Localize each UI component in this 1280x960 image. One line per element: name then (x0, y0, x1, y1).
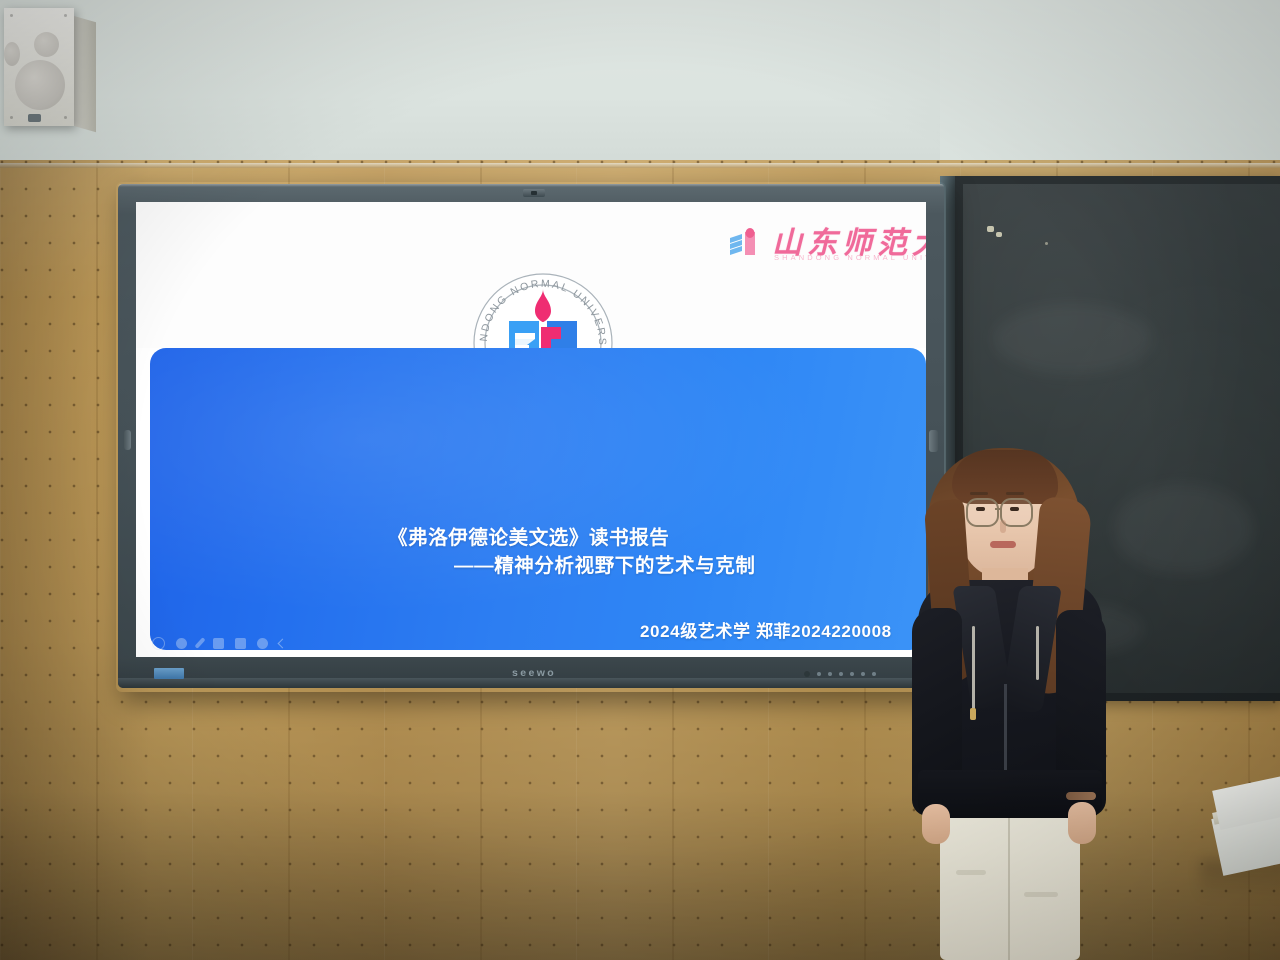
hand-left (922, 804, 950, 844)
glasses-bridge (995, 508, 1002, 510)
bezel-highlight (118, 184, 944, 187)
display-brand-logo: seewo (512, 667, 556, 679)
glasses-lens-left (966, 498, 999, 527)
chevron-left-icon[interactable] (278, 638, 288, 648)
hand-right (1068, 802, 1096, 844)
speaker-woofer (15, 60, 65, 110)
slide-header-logo: 山东师范大学 SHANDONG NORMAL UNIVERSITY (728, 220, 926, 268)
drawstring-left (972, 626, 975, 712)
shape-icon[interactable] (257, 638, 268, 649)
slide-title-line1: 《弗洛伊德论美文选》读书报告 (388, 521, 669, 550)
eye-right (1010, 507, 1019, 511)
eye-left (976, 507, 985, 511)
eraser-icon[interactable] (235, 638, 246, 649)
presenter (900, 440, 1120, 960)
display-control-buttons[interactable] (804, 671, 876, 677)
speaker-screw (10, 14, 13, 17)
display-bottom-lip (118, 678, 944, 688)
slide-blue-sheen (150, 348, 926, 650)
drawstring-tip (970, 708, 976, 720)
speaker-screw (64, 14, 67, 17)
cursor-icon[interactable] (176, 638, 187, 649)
control-button-icon[interactable] (817, 672, 821, 676)
slide-header-institution-en: SHANDONG NORMAL UNIVERSITY (774, 253, 926, 262)
wall-speaker (4, 8, 74, 126)
chalk-mark (996, 232, 1002, 237)
eyebrow-right (1006, 492, 1024, 495)
classroom-scene: 山东师范大学 SHANDONG NORMAL UNIVERSITY SHANDO… (0, 0, 1280, 960)
slide-floating-toolbar[interactable] (146, 634, 332, 652)
eyebrow-left (970, 492, 988, 495)
pants-fold (956, 870, 986, 875)
speaker-side-face (74, 16, 96, 132)
bezel-sticker (154, 668, 184, 679)
power-button-icon[interactable] (804, 671, 810, 677)
control-button-icon[interactable] (850, 672, 854, 676)
pen-icon[interactable] (194, 637, 205, 649)
pants-fold (1024, 892, 1058, 897)
speaker-screw (64, 116, 67, 119)
chalk-smudge (1113, 484, 1253, 574)
speaker-screw (10, 116, 13, 119)
chalk-smudge (993, 304, 1153, 374)
slide-author-line: 2024级艺术学 郑菲2024220008 (640, 617, 892, 642)
bracelet (1066, 792, 1096, 800)
control-button-icon[interactable] (828, 672, 832, 676)
chalk-mark (987, 226, 994, 232)
hair-front (952, 450, 1058, 504)
wall-trim-line (0, 163, 1280, 168)
camera-lens-icon (531, 191, 537, 195)
slide-title-line2: ——精神分析视野下的艺术与克制 (454, 549, 756, 578)
control-button-icon[interactable] (861, 672, 865, 676)
shandong-normal-book-mark-icon (728, 228, 762, 258)
display-screen[interactable]: 山东师范大学 SHANDONG NORMAL UNIVERSITY SHANDO… (136, 202, 926, 657)
display-side-button-left[interactable] (124, 430, 131, 450)
control-button-icon[interactable] (839, 672, 843, 676)
nose (1000, 520, 1006, 533)
speaker-driver-small (4, 42, 20, 66)
speaker-tweeter (34, 32, 59, 57)
control-button-icon[interactable] (872, 672, 876, 676)
speaker-logo-badge (28, 114, 41, 122)
select-icon[interactable] (213, 638, 224, 649)
drawstring-right (1036, 626, 1039, 680)
circle-icon[interactable] (152, 637, 165, 650)
upper-wall-right (940, 0, 1280, 180)
mouth (990, 541, 1016, 548)
chalk-mark (1045, 242, 1048, 245)
